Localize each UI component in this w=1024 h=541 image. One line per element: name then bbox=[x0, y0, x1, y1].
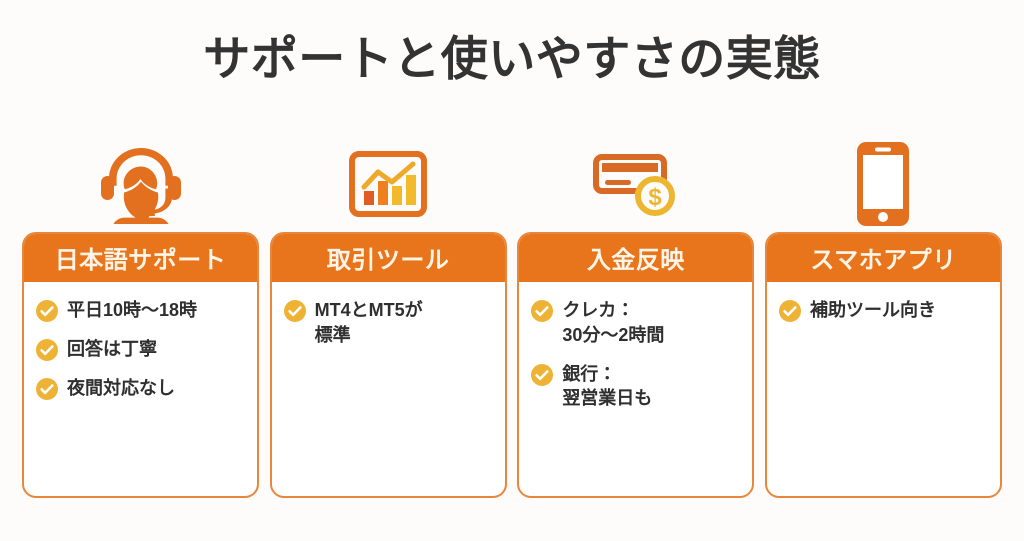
list-item-label: MT4とMT5が 標準 bbox=[315, 298, 423, 348]
card-title-smartphone-app: スマホアプリ bbox=[766, 233, 1001, 282]
smartphone-icon bbox=[765, 136, 1002, 232]
card-grid: 日本語サポート 平日10時〜18時 bbox=[22, 136, 1002, 501]
check-circle-icon bbox=[284, 300, 306, 322]
list-item: クレカ： 30分〜2時間 bbox=[531, 298, 742, 348]
list-item-label: 銀行： 翌営業日も bbox=[562, 362, 652, 412]
card-body: 補助ツール向き bbox=[767, 282, 1000, 496]
list-item: 銀行： 翌営業日も bbox=[531, 362, 742, 412]
card-title-deposit-reflection: 入金反映 bbox=[518, 233, 753, 282]
page-title: サポートと使いやすさの実態 bbox=[0, 33, 1024, 85]
infographic-page: サポートと使いやすさの実態 日本語サポート bbox=[0, 0, 1024, 541]
bullet-list: 補助ツール向き bbox=[779, 298, 990, 323]
check-circle-icon bbox=[36, 378, 58, 400]
card-deposit-reflection: $ 入金反映 クレカ： 30分〜2時間 bbox=[517, 136, 754, 498]
svg-text:$: $ bbox=[648, 184, 662, 211]
check-circle-icon bbox=[779, 300, 801, 322]
check-circle-icon bbox=[531, 300, 553, 322]
card-body: MT4とMT5が 標準 bbox=[272, 282, 505, 496]
card-box: スマホアプリ 補助ツール向き bbox=[765, 232, 1002, 498]
card-japanese-support: 日本語サポート 平日10時〜18時 bbox=[22, 136, 259, 498]
card-body: 平日10時〜18時 回答は丁寧 bbox=[24, 282, 257, 496]
bullet-list: クレカ： 30分〜2時間 銀行： 翌営業日も bbox=[531, 298, 742, 411]
list-item-label: 補助ツール向き bbox=[810, 298, 936, 323]
card-box: 取引ツール MT4とMT5が 標準 bbox=[270, 232, 507, 498]
card-body: クレカ： 30分〜2時間 銀行： 翌営業日も bbox=[519, 282, 752, 496]
bar-chart-icon bbox=[270, 136, 507, 232]
bullet-list: MT4とMT5が 標準 bbox=[284, 298, 495, 348]
list-item: 回答は丁寧 bbox=[36, 337, 247, 362]
bullet-list: 平日10時〜18時 回答は丁寧 bbox=[36, 298, 247, 400]
card-title-trading-tools: 取引ツール bbox=[271, 233, 506, 282]
list-item: 平日10時〜18時 bbox=[36, 298, 247, 323]
card-trading-tools: 取引ツール MT4とMT5が 標準 bbox=[270, 136, 507, 498]
list-item-label: 平日10時〜18時 bbox=[67, 298, 197, 323]
list-item-label: クレカ： 30分〜2時間 bbox=[562, 298, 664, 348]
list-item: 夜間対応なし bbox=[36, 376, 247, 401]
card-box: 日本語サポート 平日10時〜18時 bbox=[22, 232, 259, 498]
card-title-japanese-support: 日本語サポート bbox=[23, 233, 258, 282]
list-item-label: 夜間対応なし bbox=[67, 376, 175, 401]
check-circle-icon bbox=[36, 339, 58, 361]
card-smartphone-app: スマホアプリ 補助ツール向き bbox=[765, 136, 1002, 498]
check-circle-icon bbox=[36, 300, 58, 322]
list-item: MT4とMT5が 標準 bbox=[284, 298, 495, 348]
card-box: 入金反映 クレカ： 30分〜2時間 bbox=[517, 232, 754, 498]
list-item-label: 回答は丁寧 bbox=[67, 337, 157, 362]
list-item: 補助ツール向き bbox=[779, 298, 990, 323]
credit-card-coin-icon: $ bbox=[517, 136, 754, 232]
headset-support-icon bbox=[22, 136, 259, 232]
check-circle-icon bbox=[531, 364, 553, 386]
